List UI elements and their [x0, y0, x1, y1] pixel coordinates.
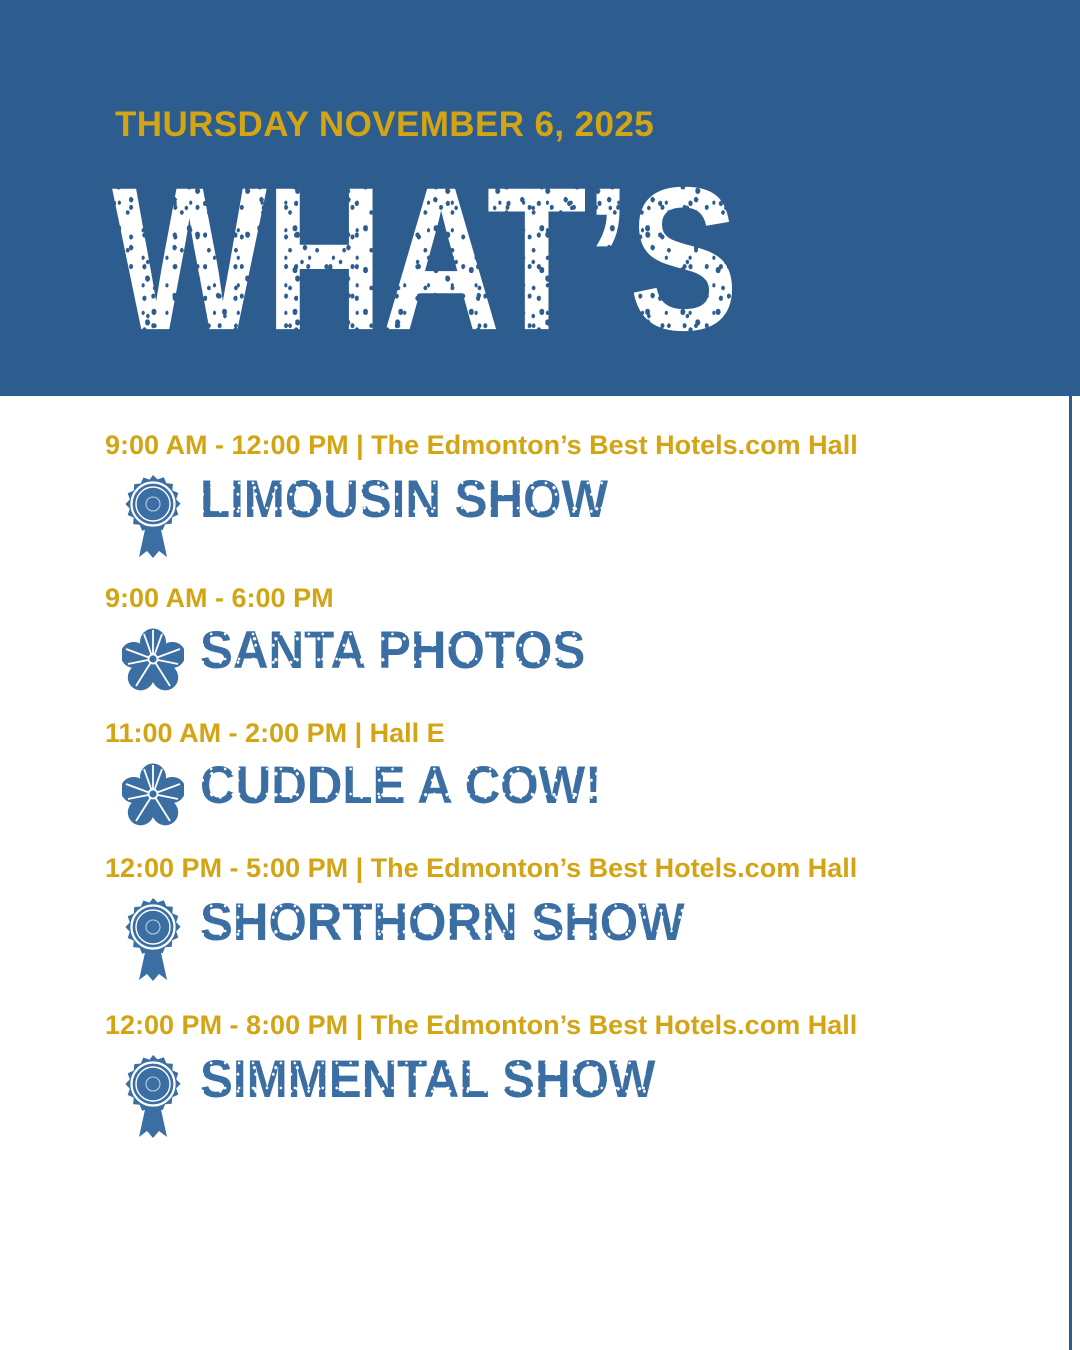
event-meta: 12:00 PM - 8:00 PM | The Edmonton’s Best… [105, 982, 1069, 1041]
header-date: THURSDAY NOVEMBER 6, 2025 [115, 105, 654, 145]
event-list: 9:00 AM - 12:00 PM | The Edmonton’s Best… [0, 396, 1069, 1139]
event-title: SHORTHORN SHOW [200, 896, 685, 950]
event-title: SANTA PHOTOS [200, 624, 585, 678]
event-title: SIMMENTAL SHOW [200, 1053, 655, 1107]
event-row: SANTA PHOTOS [122, 624, 1069, 694]
event-title: LIMOUSIN SHOW [200, 473, 608, 527]
event-row: LIMOUSIN SHOW [122, 473, 1069, 559]
poster-header: THURSDAY NOVEMBER 6, 2025 WHAT’S ON? [0, 0, 1080, 396]
event-row: CUDDLE A COW! [122, 759, 1069, 829]
list-item[interactable]: 9:00 AM - 12:00 PM | The Edmonton’s Best… [0, 396, 1069, 559]
event-meta: 11:00 AM - 2:00 PM | Hall E [105, 694, 1069, 749]
list-item[interactable]: 12:00 PM - 5:00 PM | The Edmonton’s Best… [0, 829, 1069, 982]
event-row: SHORTHORN SHOW [122, 896, 1069, 982]
flower-rosette-icon [122, 624, 184, 694]
list-item[interactable]: 12:00 PM - 8:00 PM | The Edmonton’s Best… [0, 982, 1069, 1139]
event-meta: 12:00 PM - 5:00 PM | The Edmonton’s Best… [105, 829, 1069, 884]
award-ribbon-icon [122, 896, 184, 982]
page-title-text: WHAT’S ON? [112, 168, 752, 352]
award-ribbon-icon [122, 473, 184, 559]
list-item[interactable]: 9:00 AM - 6:00 PM [0, 559, 1069, 694]
right-edge-rule [1069, 396, 1072, 1350]
event-meta: 9:00 AM - 6:00 PM [105, 559, 1069, 614]
event-row: SIMMENTAL SHOW [122, 1053, 1069, 1139]
list-item[interactable]: 11:00 AM - 2:00 PM | Hall E [0, 694, 1069, 829]
event-title: CUDDLE A COW! [200, 759, 602, 813]
event-meta: 9:00 AM - 12:00 PM | The Edmonton’s Best… [105, 396, 1069, 461]
flower-rosette-icon [122, 759, 184, 829]
award-ribbon-icon [122, 1053, 184, 1139]
page-title: WHAT’S ON? [112, 168, 892, 358]
